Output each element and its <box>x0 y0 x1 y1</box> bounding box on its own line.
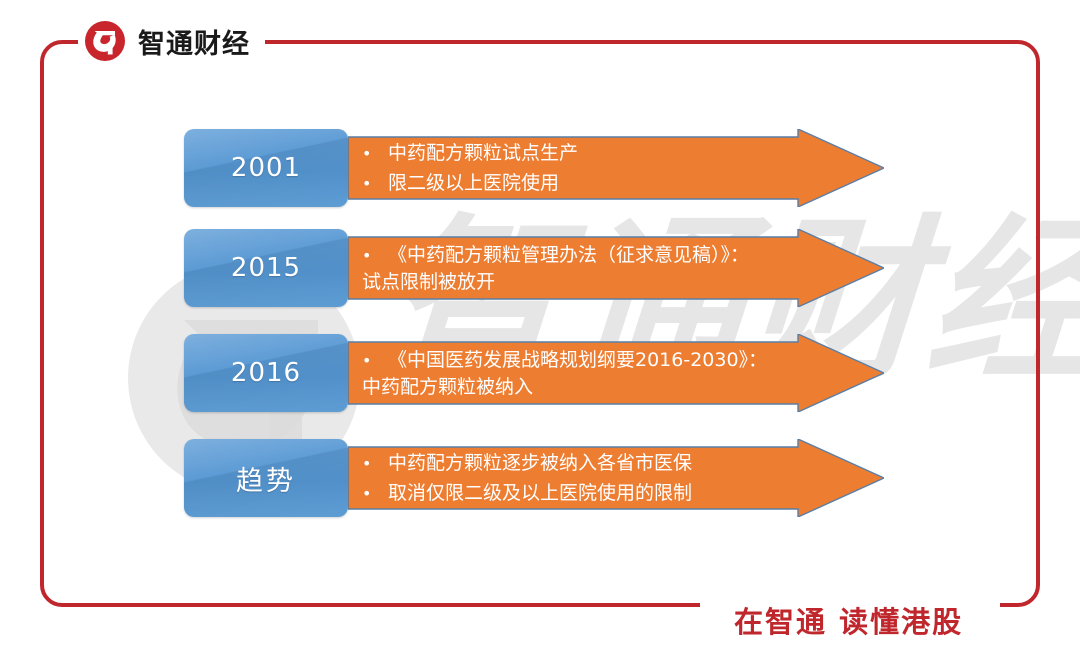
timeline-year-box[interactable]: 趋势 <box>184 439 348 517</box>
bullet-text: 《中国医药发展战略规划纲要2016-2030》： <box>388 349 767 371</box>
timeline-year-box[interactable]: 2015 <box>184 229 348 307</box>
timeline-arrow: • 中药配方颗粒试点生产 • 限二级以上医院使用 <box>348 129 884 207</box>
timeline-year-label: 2015 <box>231 253 301 283</box>
bullet-item: • 限二级以上医院使用 <box>362 172 842 195</box>
timeline-row: • 中药配方颗粒逐步被纳入各省市医保 • 取消仅限二级及以上医院使用的限制 趋势 <box>184 439 884 517</box>
bullet-text: 中药配方颗粒试点生产 <box>388 142 578 164</box>
slide-canvas: 智通财经 智通财经 • 中药 <box>0 0 1080 647</box>
timeline-year-label: 2001 <box>231 153 301 183</box>
bullet-text: 中药配方颗粒逐步被纳入各省市医保 <box>388 452 692 474</box>
timeline-year-label: 趋势 <box>236 459 296 498</box>
bullet-item: • 《中药配方颗粒管理办法（征求意见稿）》： <box>362 244 842 267</box>
timeline-year-label: 2016 <box>231 358 301 388</box>
bullet-item: • 中药配方颗粒试点生产 <box>362 142 842 165</box>
brand-name: 智通财经 <box>138 22 250 61</box>
bullet-dot-icon: • <box>362 245 388 267</box>
bullet-text: 《中药配方颗粒管理办法（征求意见稿）》： <box>388 244 749 266</box>
timeline-row: • 中药配方颗粒试点生产 • 限二级以上医院使用 2001 <box>184 129 884 207</box>
bullet-text: 限二级以上医院使用 <box>388 172 559 194</box>
brand-header: 智通财经 <box>84 18 260 64</box>
bullet-dot-icon: • <box>362 483 388 505</box>
timeline-row: • 《中药配方颗粒管理办法（征求意见稿）》： 试点限制被放开 2015 <box>184 229 884 307</box>
timeline-arrow: • 《中国医药发展战略规划纲要2016-2030》： 中药配方颗粒被纳入 <box>348 334 884 412</box>
bullet-item: • 中药配方颗粒逐步被纳入各省市医保 <box>362 452 842 475</box>
timeline-year-box[interactable]: 2001 <box>184 129 348 207</box>
timeline-row-content: • 中药配方颗粒试点生产 • 限二级以上医院使用 <box>362 129 842 207</box>
timeline-diagram: • 中药配方颗粒试点生产 • 限二级以上医院使用 2001 <box>0 0 1080 647</box>
timeline-row-content: • 《中药配方颗粒管理办法（征求意见稿）》： 试点限制被放开 <box>362 229 842 307</box>
bullet-dot-icon: • <box>362 173 388 195</box>
timeline-year-box[interactable]: 2016 <box>184 334 348 412</box>
bullet-text: 取消仅限二级及以上医院使用的限制 <box>388 482 692 504</box>
bullet-continuation: 试点限制被放开 <box>362 271 842 293</box>
bullet-item: • 取消仅限二级及以上医院使用的限制 <box>362 482 842 505</box>
timeline-row: • 《中国医药发展战略规划纲要2016-2030》： 中药配方颗粒被纳入 201… <box>184 334 884 412</box>
bullet-item: • 《中国医药发展战略规划纲要2016-2030》： <box>362 349 842 372</box>
timeline-arrow: • 《中药配方颗粒管理办法（征求意见稿）》： 试点限制被放开 <box>348 229 884 307</box>
timeline-row-content: • 《中国医药发展战略规划纲要2016-2030》： 中药配方颗粒被纳入 <box>362 334 842 412</box>
bullet-continuation: 中药配方颗粒被纳入 <box>362 376 842 398</box>
zhitong-circle-logo-icon <box>84 20 126 62</box>
bullet-dot-icon: • <box>362 453 388 475</box>
timeline-arrow: • 中药配方颗粒逐步被纳入各省市医保 • 取消仅限二级及以上医院使用的限制 <box>348 439 884 517</box>
bullet-dot-icon: • <box>362 350 388 372</box>
timeline-row-content: • 中药配方颗粒逐步被纳入各省市医保 • 取消仅限二级及以上医院使用的限制 <box>362 439 842 517</box>
bullet-dot-icon: • <box>362 143 388 165</box>
footer-slogan: 在智通 读懂港股 <box>724 599 973 641</box>
